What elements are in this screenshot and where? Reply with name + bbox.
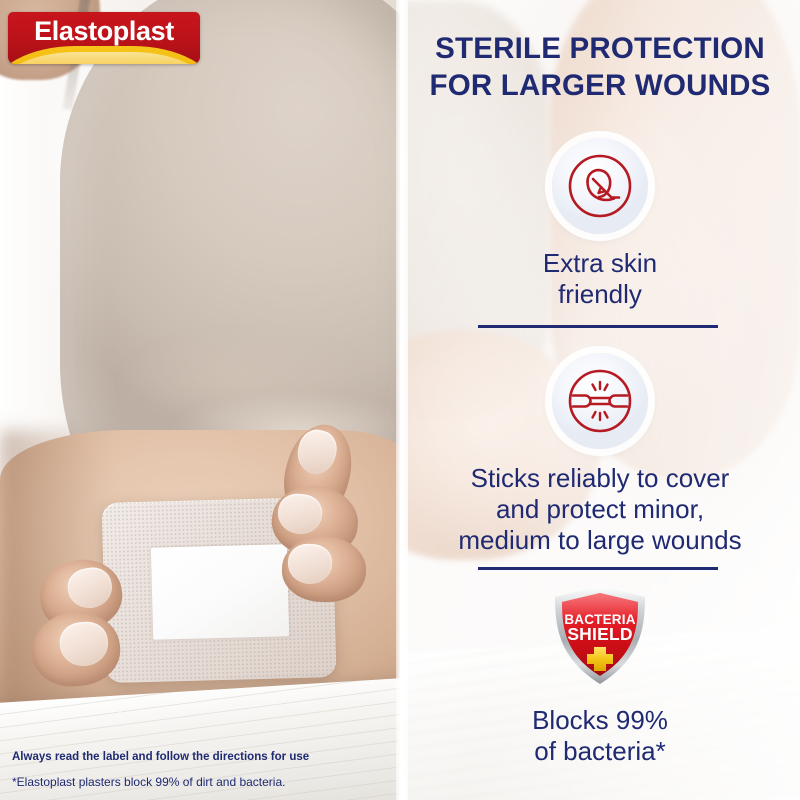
logo-wordmark: Elastoplast bbox=[8, 16, 200, 47]
headline-line-1: STERILE PROTECTION bbox=[408, 30, 792, 67]
chain-link-icon bbox=[563, 364, 637, 438]
benefit-item-blocks-bacteria: BACTERIA SHIELD Blocks 99% of bacteria* bbox=[408, 583, 792, 767]
legal-disclaimer-label: Always read the label and follow the dir… bbox=[12, 751, 309, 763]
benefit-label: Extra skin friendly bbox=[408, 248, 792, 310]
advertisement-root: Elastoplast STERILE PROTECTION FOR LARGE… bbox=[0, 0, 800, 800]
product-photo-panel bbox=[0, 0, 400, 800]
bacteria-shield-badge: BACTERIA SHIELD bbox=[548, 583, 652, 687]
feather-icon bbox=[563, 149, 637, 223]
benefit-divider-rule bbox=[478, 567, 718, 570]
headline-line-2: FOR LARGER WOUNDS bbox=[408, 67, 792, 104]
shield-line-2: SHIELD bbox=[567, 624, 632, 644]
page-title: STERILE PROTECTION FOR LARGER WOUNDS bbox=[408, 30, 792, 104]
elastoplast-logo: Elastoplast bbox=[8, 12, 200, 64]
legal-footnote: *Elastoplast plasters block 99% of dirt … bbox=[12, 775, 285, 789]
benefit-label: Sticks reliably to cover and protect min… bbox=[408, 463, 792, 557]
shield-icon: BACTERIA SHIELD bbox=[548, 583, 652, 687]
benefit-icon-badge bbox=[552, 138, 648, 234]
benefit-divider-rule bbox=[478, 325, 718, 328]
panel-divider bbox=[396, 0, 408, 800]
benefit-item-sticks-reliably: Sticks reliably to cover and protect min… bbox=[408, 353, 792, 557]
benefit-label: Blocks 99% of bacteria* bbox=[408, 705, 792, 767]
benefit-item-skin-friendly: Extra skin friendly bbox=[408, 138, 792, 310]
benefit-icon-badge bbox=[552, 353, 648, 449]
photo-hand-upper bbox=[268, 424, 400, 634]
